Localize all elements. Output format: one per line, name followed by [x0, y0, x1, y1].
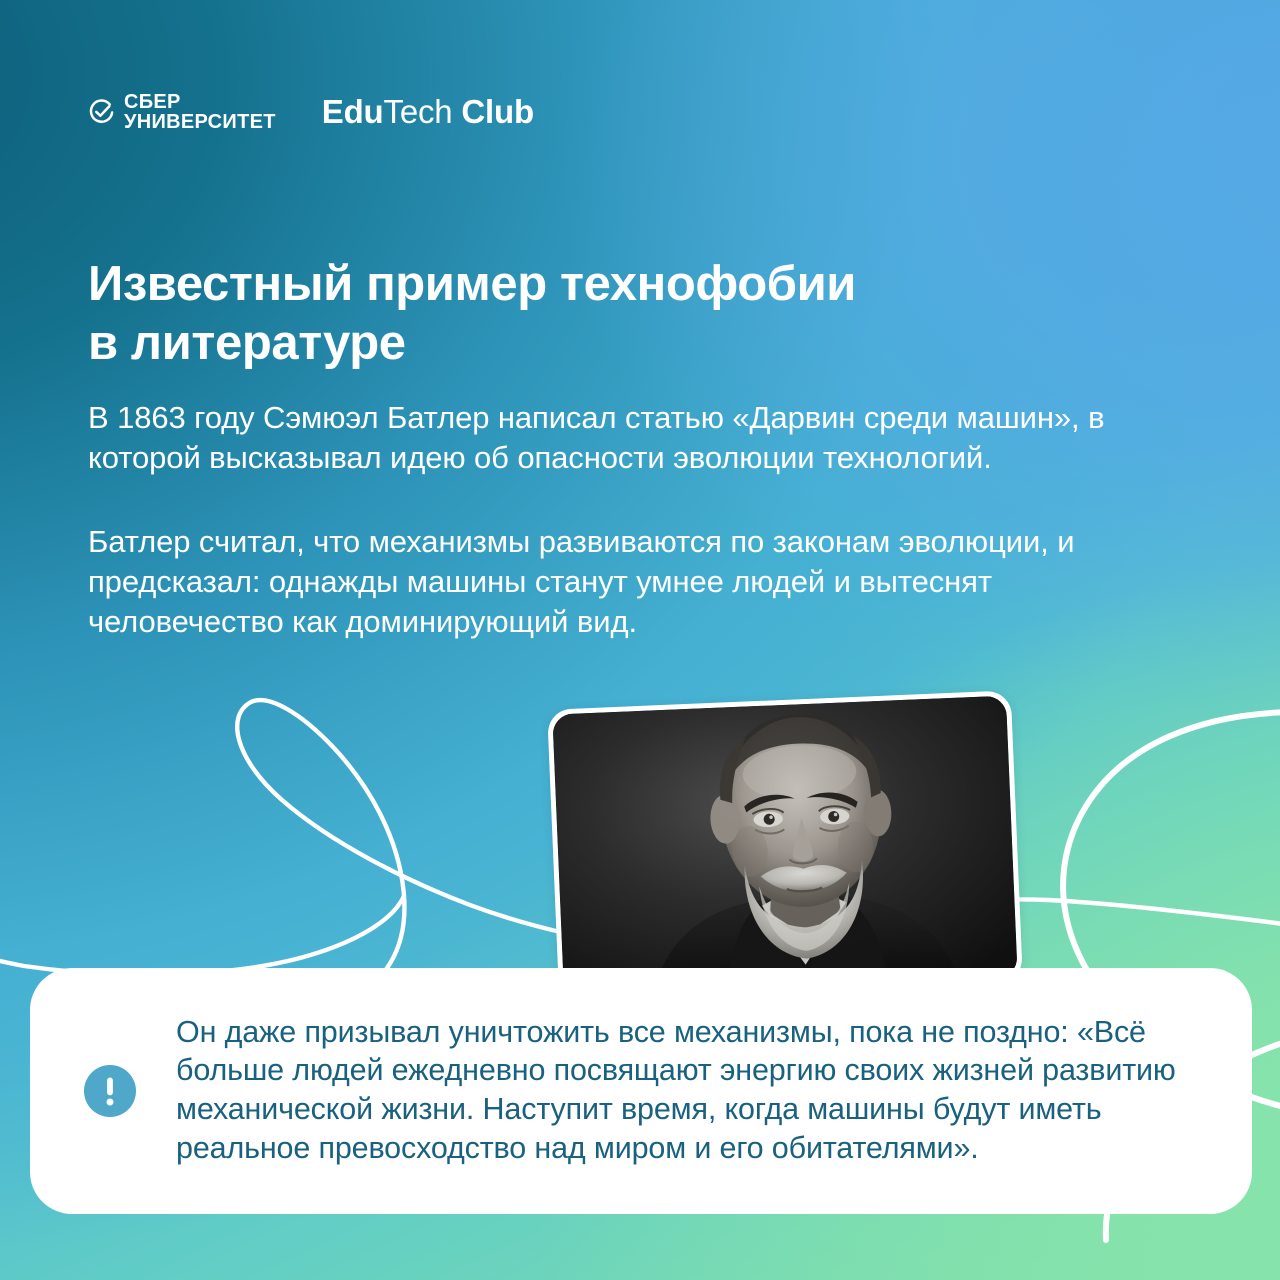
- edutech-logo-tech: Tech: [384, 93, 453, 130]
- circle-check-icon: [88, 99, 115, 126]
- brand-header: СБЕР УНИВЕРСИТЕТ EduTech Club: [88, 92, 534, 133]
- body-paragraph-2: Батлер считал, что механизмы развиваются…: [88, 522, 1173, 643]
- edutech-club-logo: EduTech Club: [322, 93, 534, 131]
- sber-logo-line2: УНИВЕРСИТЕТ: [124, 112, 276, 132]
- edutech-logo-club: Club: [461, 93, 534, 130]
- portrait-photo: [552, 696, 1017, 997]
- quote-text: Он даже призывал уничтожить все механизм…: [176, 1013, 1206, 1168]
- body-copy: В 1863 году Сэмюэл Батлер написал статью…: [88, 398, 1173, 642]
- edutech-logo-edu: Edu: [322, 93, 384, 130]
- slide-root: СБЕР УНИВЕРСИТЕТ EduTech Club Известный …: [0, 0, 1280, 1280]
- exclamation-mark-icon: [84, 1065, 136, 1117]
- page-title-line2: в литературе: [88, 316, 406, 370]
- sber-university-logo: СБЕР УНИВЕРСИТЕТ: [88, 92, 276, 133]
- page-title: Известный пример технофобии в литературе: [88, 255, 1088, 373]
- portrait-photo-card: [547, 690, 1023, 1001]
- body-paragraph-1: В 1863 году Сэмюэл Батлер написал статью…: [88, 398, 1173, 479]
- sber-logo-line1: СБЕР: [124, 92, 276, 112]
- page-title-line1: Известный пример технофобии: [88, 257, 856, 311]
- sber-wordmark: СБЕР УНИВЕРСИТЕТ: [124, 92, 276, 133]
- quote-card: Он даже призывал уничтожить все механизм…: [30, 968, 1252, 1214]
